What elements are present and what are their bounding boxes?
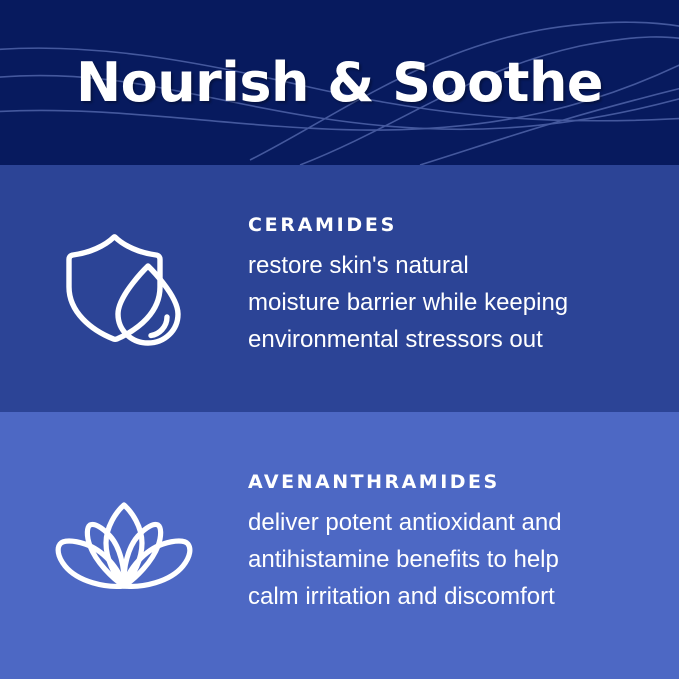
ceramides-body: restore skin's natural moisture barrier …: [248, 247, 653, 358]
avenanthramides-body-line-3: calm irritation and discomfort: [248, 578, 653, 615]
avenanthramides-kicker: AVENANTHRAMIDES: [248, 472, 653, 493]
avenanthramides-body: deliver potent antioxidant and antihista…: [248, 504, 653, 615]
section-ceramides: CERAMIDES restore skin's natural moistur…: [0, 165, 679, 412]
avenanthramides-text-block: AVENANTHRAMIDES deliver potent antioxida…: [248, 472, 679, 615]
avenanthramides-body-line-1: deliver potent antioxidant and: [248, 504, 653, 541]
page-title: Nourish & Soothe: [0, 0, 679, 165]
ingredient-benefits-infographic: Nourish & Soothe CERAMIDES restore skin'…: [0, 0, 679, 679]
ceramides-body-line-1: restore skin's natural: [248, 247, 653, 284]
ceramides-kicker: CERAMIDES: [248, 215, 653, 236]
lotus-flower-icon: [54, 500, 194, 592]
ceramides-body-line-2: moisture barrier while keeping: [248, 284, 653, 321]
avenanthramides-body-line-2: antihistamine benefits to help: [248, 541, 653, 578]
avenanthramides-icon-container: [0, 500, 248, 592]
section-avenanthramides: AVENANTHRAMIDES deliver potent antioxida…: [0, 412, 679, 679]
ceramides-body-line-3: environmental stressors out: [248, 321, 653, 358]
ceramides-text-block: CERAMIDES restore skin's natural moistur…: [248, 215, 679, 358]
header-banner: Nourish & Soothe: [0, 0, 679, 165]
ceramides-icon-container: [0, 231, 248, 346]
shield-droplet-icon: [59, 231, 189, 346]
